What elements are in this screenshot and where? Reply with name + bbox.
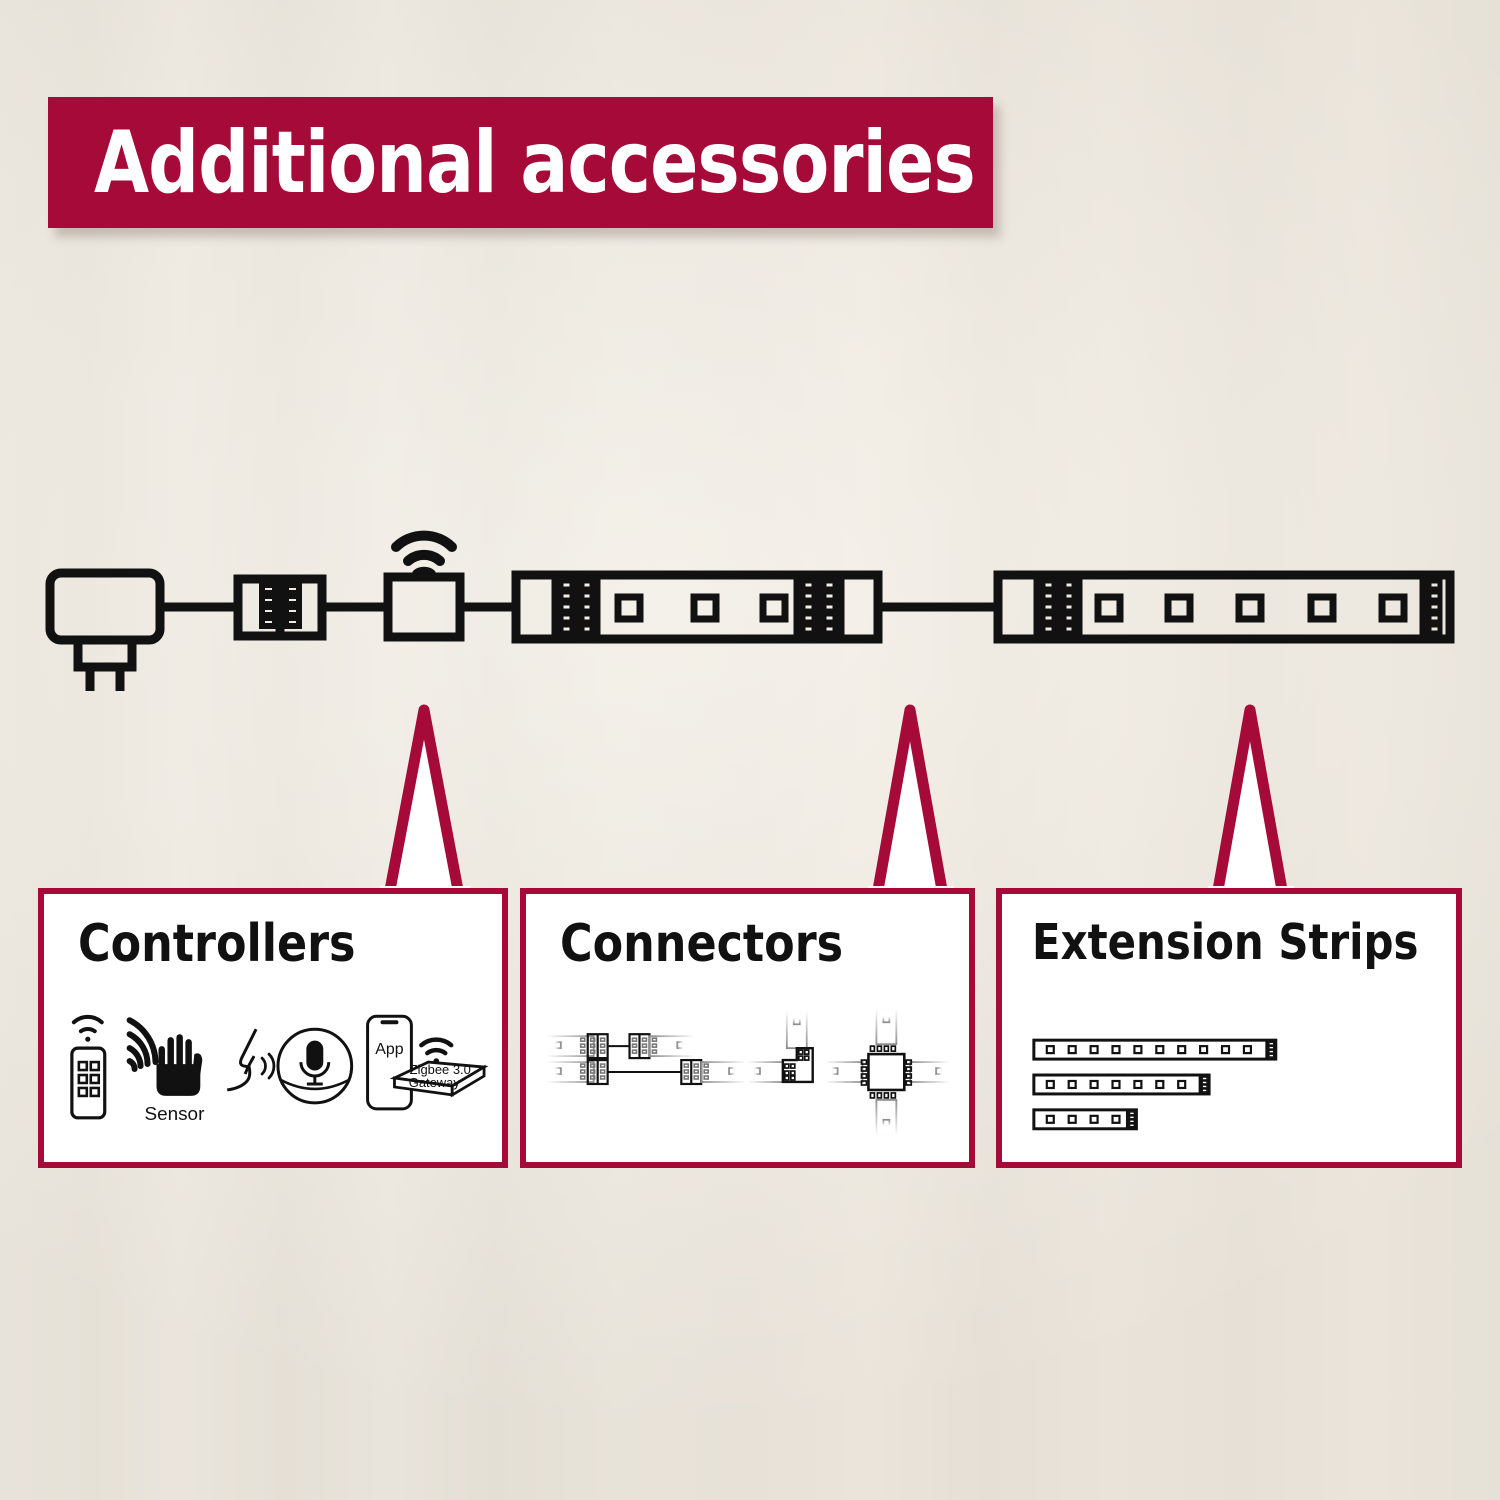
extension-strip-short: [1034, 1110, 1137, 1129]
title-banner: Additional accessories: [48, 97, 993, 228]
motion-sensor-icon: [130, 1020, 203, 1096]
smartphone-app-icon: [368, 1016, 412, 1109]
callout-pointer-extensions: [1218, 710, 1282, 900]
app-label: App: [375, 1041, 403, 1058]
connector-block-icon: [238, 579, 322, 636]
extension-strips-icon-row: [1002, 1004, 1456, 1154]
short-cable-connector-icon: [546, 1034, 695, 1058]
callout-box-extensions[interactable]: Extension Strips: [996, 888, 1462, 1168]
microphone-icon: [301, 1042, 329, 1084]
long-cable-connector-icon: [546, 1060, 747, 1084]
page-title: Additional accessories: [94, 113, 975, 213]
callout-box-controllers[interactable]: Controllers: [38, 888, 508, 1168]
controllers-icon-row: Sensor App: [44, 1004, 502, 1154]
box-title-extensions: Extension Strips: [1032, 914, 1418, 971]
controller-icon: [388, 577, 460, 637]
power-supply-icon: [50, 573, 160, 691]
callout-pointers: [0, 690, 1500, 910]
cross-x-connector-icon: [825, 1008, 950, 1135]
led-strip-segment-2: [998, 575, 1450, 639]
connectors-icon-row: [526, 1004, 969, 1154]
corner-l-connector-icon: [747, 1010, 813, 1082]
zigbee-label-line2: Gateway: [409, 1075, 461, 1090]
box-title-controllers: Controllers: [78, 914, 355, 974]
sensor-label: Sensor: [144, 1104, 204, 1125]
voice-assistant-icon: [227, 1029, 351, 1103]
wifi-signal-icon: [396, 536, 452, 574]
callout-pointer-connectors: [878, 710, 942, 900]
hand-icon: [157, 1034, 203, 1096]
extension-strip-medium: [1034, 1075, 1209, 1094]
callout-pointer-controllers: [390, 710, 458, 900]
box-title-connectors: Connectors: [560, 914, 843, 974]
extension-strip-long: [1034, 1040, 1276, 1059]
callout-box-connectors[interactable]: Connectors: [520, 888, 975, 1168]
system-chain-diagram: [0, 495, 1500, 710]
led-strip-segment-1: [516, 575, 878, 639]
remote-control-icon: [72, 1017, 105, 1118]
zigbee-gateway-icon: [421, 1040, 451, 1064]
